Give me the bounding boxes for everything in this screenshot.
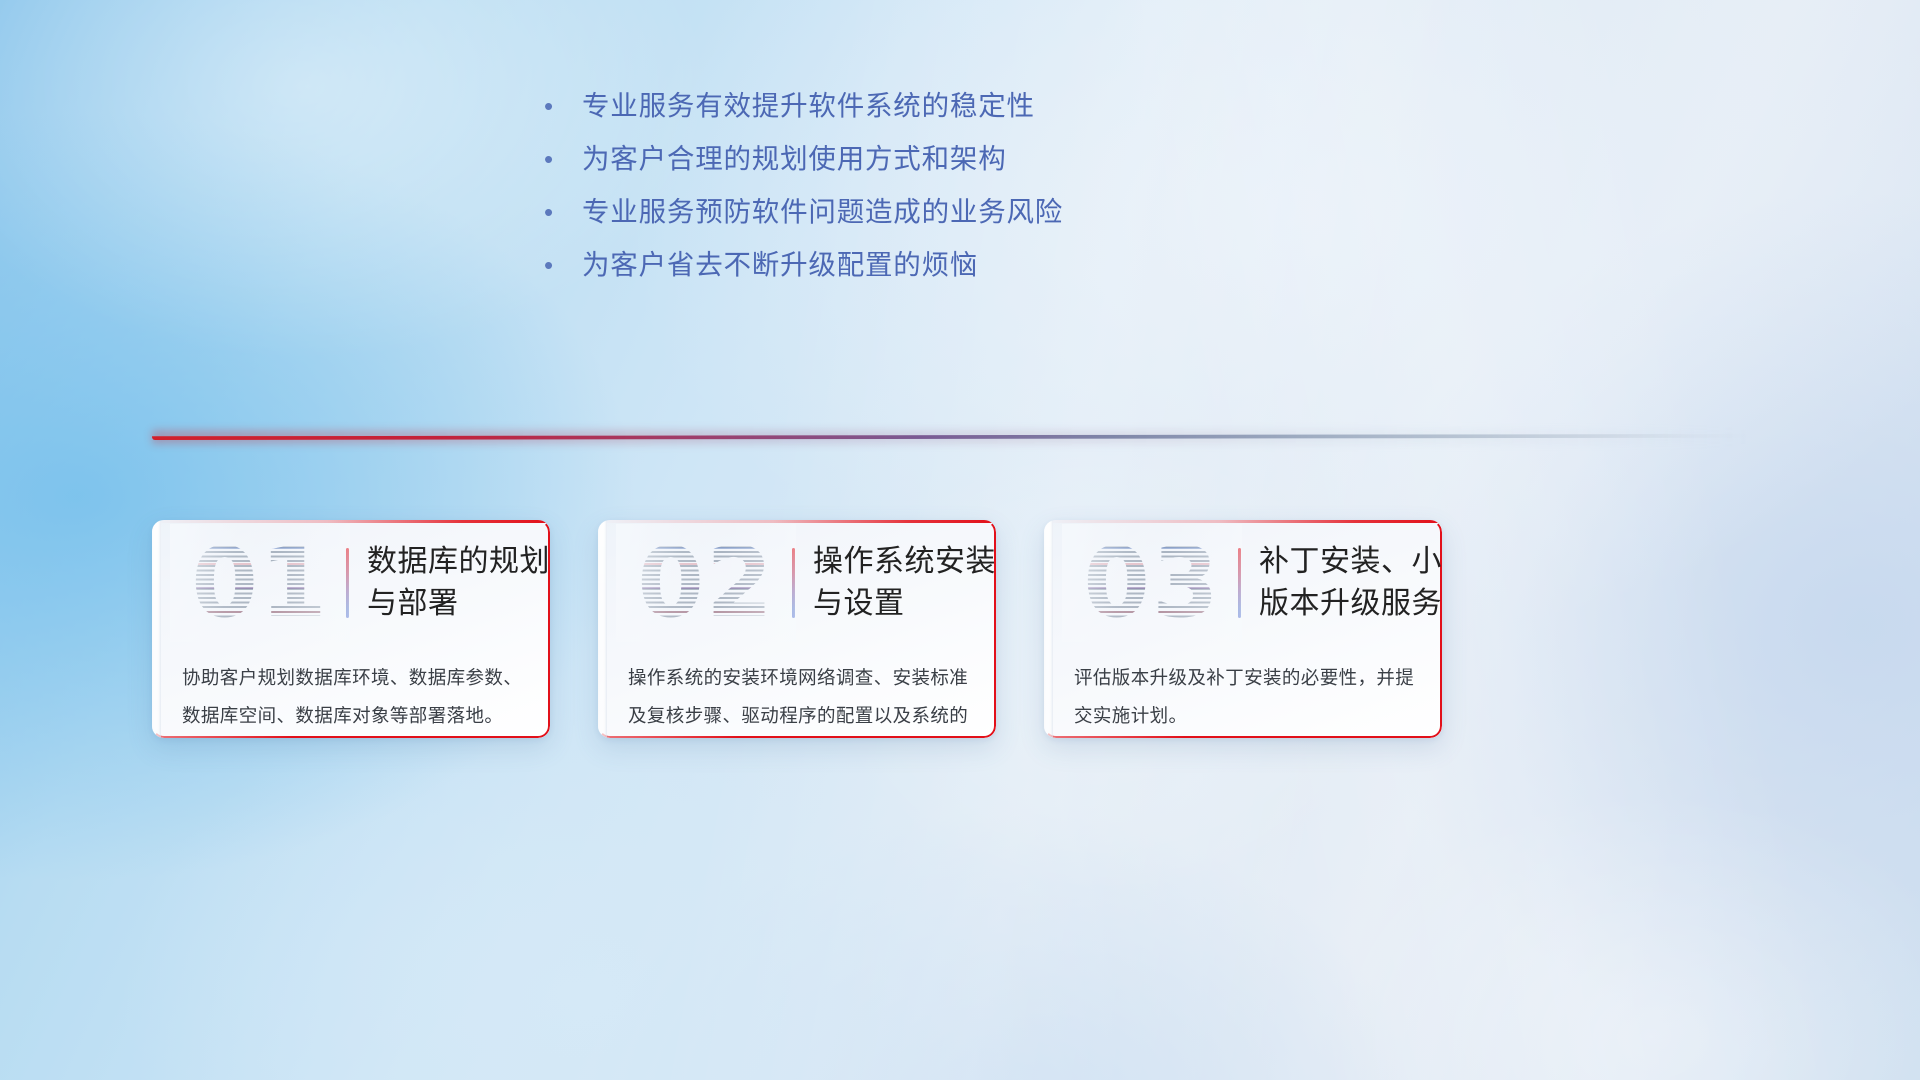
card-title-accent-bar bbox=[792, 548, 795, 618]
bullet-text: 专业服务预防软件问题造成的业务风险 bbox=[582, 192, 1063, 232]
bullet-dot-icon: • bbox=[536, 86, 582, 126]
card-description: 协助客户规划数据库环境、数据库参数、数据库空间、数据库对象等部署落地。 bbox=[182, 660, 524, 736]
card-header: 02 02 02 操作系统安装与设置 bbox=[598, 520, 996, 646]
list-item: • 为客户合理的规划使用方式和架构 bbox=[536, 139, 1296, 192]
card-header: 03 03 03 补丁安装、小版本升级服务 bbox=[1044, 520, 1442, 646]
card-description: 操作系统的安装环境网络调查、安装标准及复核步骤、驱动程序的配置以及系统的设置等内… bbox=[628, 660, 970, 738]
card-number-watermark: 01 01 01 bbox=[174, 528, 346, 638]
card-description: 评估版本升级及补丁安装的必要性，并提交实施计划。 bbox=[1074, 660, 1416, 736]
bullet-dot-icon: • bbox=[536, 245, 582, 285]
section-divider bbox=[152, 430, 1752, 444]
bullet-dot-icon: • bbox=[536, 192, 582, 232]
card-number-watermark: 03 03 03 bbox=[1066, 528, 1238, 638]
card-title: 补丁安装、小版本升级服务 bbox=[1259, 541, 1442, 625]
bullet-text: 为客户合理的规划使用方式和架构 bbox=[582, 139, 1007, 179]
bullet-text: 专业服务有效提升软件系统的稳定性 bbox=[582, 86, 1035, 126]
benefits-bullet-list: • 专业服务有效提升软件系统的稳定性 • 为客户合理的规划使用方式和架构 • 专… bbox=[536, 86, 1296, 298]
service-card[interactable]: 02 02 02 操作系统安装与设置 操作系统的安装环境网络调查、安装标准及复核… bbox=[598, 520, 996, 738]
service-card[interactable]: 01 01 01 数据库的规划与部署 协助客户规划数据库环境、数据库参数、数据库… bbox=[152, 520, 550, 738]
card-header: 01 01 01 数据库的规划与部署 bbox=[152, 520, 550, 646]
list-item: • 为客户省去不断升级配置的烦恼 bbox=[536, 245, 1296, 298]
list-item: • 专业服务有效提升软件系统的稳定性 bbox=[536, 86, 1296, 139]
card-number-watermark: 02 02 02 bbox=[620, 528, 792, 638]
bullet-text: 为客户省去不断升级配置的烦恼 bbox=[582, 245, 978, 285]
card-title-accent-bar bbox=[346, 548, 349, 618]
service-card[interactable]: 03 03 03 补丁安装、小版本升级服务 评估版本升级及补丁安装的必要性，并提… bbox=[1044, 520, 1442, 738]
card-title: 数据库的规划与部署 bbox=[367, 541, 550, 625]
list-item: • 专业服务预防软件问题造成的业务风险 bbox=[536, 192, 1296, 245]
bullet-dot-icon: • bbox=[536, 139, 582, 179]
card-title: 操作系统安装与设置 bbox=[813, 541, 996, 625]
card-number-blue-stripes: 01 bbox=[174, 528, 346, 638]
card-number-blue-stripes: 03 bbox=[1066, 528, 1238, 638]
service-card-group: 01 01 01 数据库的规划与部署 协助客户规划数据库环境、数据库参数、数据库… bbox=[152, 520, 1442, 738]
card-title-accent-bar bbox=[1238, 548, 1241, 618]
card-number-blue-stripes: 02 bbox=[620, 528, 792, 638]
